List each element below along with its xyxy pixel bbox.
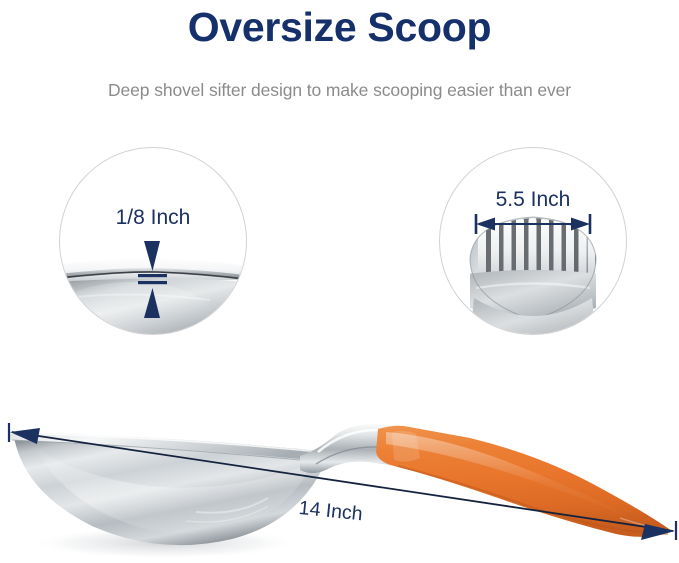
- scoop-product-image: [0, 0, 679, 563]
- product-infographic: Oversize Scoop Deep shovel sifter design…: [0, 0, 679, 563]
- scoop-bowl: [10, 432, 332, 545]
- scoop-handle: [376, 426, 672, 537]
